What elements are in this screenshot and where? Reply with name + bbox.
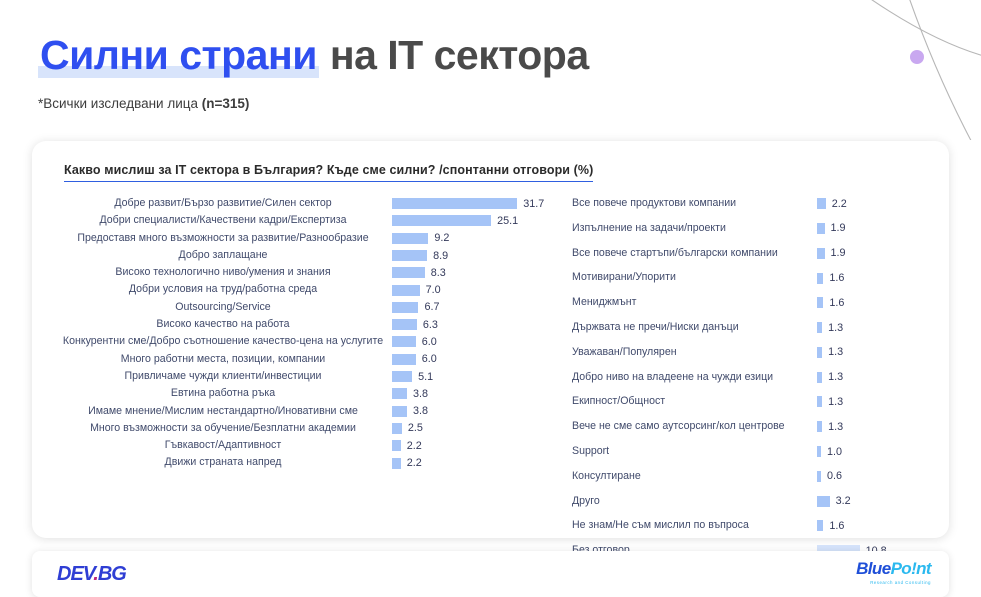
chart-row-barbox: 5.1 [392,370,560,383]
chart-row: Предоставя много възможности за развитие… [60,232,560,245]
chart-bar [817,248,825,259]
chart-bar-value: 1.3 [828,396,843,408]
chart-row: Уважаван/Популярен1.3 [572,346,942,359]
chart-bar [817,421,822,432]
chart-row: Добро ниво на владеене на чужди езици1.3 [572,371,942,384]
chart-row-label: Уважаван/Популярен [572,346,817,359]
chart-row-label: Все повече стартъпи/български компании [572,247,817,260]
chart-row-barbox: 3.2 [817,495,942,508]
chart-bar [392,406,407,417]
chart-row-label: Много работни места, позиции, компании [60,353,392,366]
chart-row-label: Добро заплащане [60,249,392,262]
chart-row-barbox: 2.2 [392,456,560,469]
chart-card: Какво мислиш за IT сектора в България? К… [32,141,949,538]
chart-row-label: Предоставя много възможности за развитие… [60,232,392,245]
chart-row-barbox: 1.3 [817,420,942,433]
chart-bar-value: 8.3 [431,267,446,279]
chart-bar-value: 9.2 [434,232,449,244]
chart-bar-value: 1.3 [828,322,843,334]
chart-row: Все повече стартъпи/български компании1.… [572,247,942,260]
chart-row: Не знам/Не съм мислил по въпроса1.6 [572,519,942,532]
chart-bar-value: 1.3 [828,421,843,433]
chart-row-label: Евтина работна ръка [60,387,392,400]
chart-row-label: Outsourcing/Service [60,301,392,314]
chart-bar-value: 3.8 [413,405,428,417]
chart-bar [817,520,823,531]
chart-row-label: Все повече продуктови компании [572,197,817,210]
chart-row: Добро заплащане8.9 [60,249,560,262]
bluepoint-logo-blue: Blue [856,559,890,578]
chart-bar-value: 5.1 [418,371,433,383]
chart-row: Високо технологично ниво/умения и знания… [60,266,560,279]
chart-row-barbox: 8.3 [392,266,560,279]
chart-row-barbox: 3.8 [392,387,560,400]
chart-bar-value: 3.8 [413,388,428,400]
chart-row-barbox: 1.6 [817,296,942,309]
chart-row-label: Добри условия на труд/работна среда [60,283,392,296]
chart-row: Консултиране0.6 [572,470,942,483]
page-title-highlight: Силни страни [38,32,319,78]
chart-bar [392,233,428,244]
chart-row-barbox: 6.0 [392,353,560,366]
chart-row-barbox: 2.5 [392,422,560,435]
chart-bar [392,458,401,469]
chart-row: Изпълнение на задачи/проекти1.9 [572,222,942,235]
footer-bar: DEV.BG BluePo!nt Research and Consulting [32,551,949,597]
chart-bar [392,285,420,296]
chart-row-label: Вече не сме само аутсорсинг/кол центрове [572,420,817,433]
chart-column-left: Добре развит/Бързо развитие/Силен сектор… [60,197,560,474]
chart-row-barbox: 2.2 [817,197,942,210]
chart-bar-value: 25.1 [497,215,518,227]
chart-row: Конкурентни сме/Добро съотношение качест… [60,335,560,348]
chart-bar [817,347,822,358]
chart-bar [392,423,402,434]
chart-row-barbox: 2.2 [392,439,560,452]
chart-row: Евтина работна ръка3.8 [60,387,560,400]
chart-bar [817,372,822,383]
chart-row-label: Конкурентни сме/Добро съотношение качест… [60,335,392,348]
subtitle: *Всички изследвани лица (n=315) [38,96,249,111]
chart-row: Мотивирани/Упорити1.6 [572,271,942,284]
chart-bar-value: 6.0 [422,336,437,348]
chart-bar-value: 6.7 [424,301,439,313]
chart-row-barbox: 1.3 [817,346,942,359]
chart-row-barbox: 1.3 [817,321,942,334]
chart-question-heading: Какво мислиш за IT сектора в България? К… [64,163,593,182]
chart-row-label: Привличаме чужди клиенти/инвестиции [60,370,392,383]
chart-row: Все повече продуктови компании2.2 [572,197,942,210]
chart-bar [817,496,830,507]
page-title: Силни страни на IT сектора [38,33,589,79]
chart-row: Support1.0 [572,445,942,458]
chart-row-barbox: 0.6 [817,470,942,483]
chart-bar [392,198,517,209]
chart-row-barbox: 8.9 [392,249,560,262]
chart-row-barbox: 31.7 [392,197,560,210]
chart-row-label: Мениджмънт [572,296,817,309]
chart-bar-value: 2.2 [407,440,422,452]
chart-row: Вече не сме само аутсорсинг/кол центрове… [572,420,942,433]
chart-bar [392,440,401,451]
chart-row-barbox: 1.6 [817,271,942,284]
chart-row: Друго3.2 [572,495,942,508]
chart-bar [392,302,418,313]
chart-bar [392,354,416,365]
chart-row: Добре развит/Бързо развитие/Силен сектор… [60,197,560,210]
chart-row-label: Екипност/Общност [572,395,817,408]
decorative-dot [910,50,924,64]
chart-bar [817,322,822,333]
chart-row-label: Имаме мнение/Мислим нестандартно/Иновати… [60,405,392,418]
chart-row: Привличаме чужди клиенти/инвестиции5.1 [60,370,560,383]
bluepoint-logo-tagline: Research and Consulting [856,580,931,585]
chart-bar [817,198,826,209]
bluepoint-logo[interactable]: BluePo!nt Research and Consulting [856,559,931,585]
chart-bar-value: 6.0 [422,353,437,365]
chart-row-label: Support [572,445,817,458]
chart-bar-value: 3.2 [836,495,851,507]
chart-bar [817,471,821,482]
chart-row: Много възможности за обучение/Безплатни … [60,422,560,435]
chart-row-label: Консултиране [572,470,817,483]
chart-row-label: Не знам/Не съм мислил по въпроса [572,519,817,532]
chart-column-right: Все повече продуктови компании2.2Изпълне… [572,197,942,569]
chart-row-label: Много възможности за обучение/Безплатни … [60,422,392,435]
chart-row-label: Добре развит/Бързо развитие/Силен сектор [60,197,392,210]
chart-row-label: Добри специалисти/Качествени кадри/Експе… [60,214,392,227]
chart-row-barbox: 1.6 [817,519,942,532]
chart-bar-value: 1.0 [827,446,842,458]
subtitle-sample-size: (n=315) [202,96,250,111]
devbg-logo-part1: DEV [57,563,93,585]
chart-row: Мениджмънт1.6 [572,296,942,309]
chart-bar-value: 1.3 [828,346,843,358]
chart-row: Високо качество на работа6.3 [60,318,560,331]
chart-bar [817,396,822,407]
chart-bar-value: 1.3 [828,371,843,383]
decorative-arcs [841,0,981,140]
chart-row-barbox: 1.9 [817,222,942,235]
chart-bar-value: 1.6 [829,520,844,532]
slide-root: Силни страни на IT сектора *Всички изсле… [0,0,981,597]
chart-row-label: Мотивирани/Упорити [572,271,817,284]
chart-row-barbox: 1.0 [817,445,942,458]
chart-row-barbox: 6.7 [392,301,560,314]
chart-bar [392,215,491,226]
chart-bar-value: 8.9 [433,250,448,262]
chart-row-label: Движи страната напред [60,456,392,469]
chart-row-barbox: 25.1 [392,214,560,227]
chart-bar [392,388,407,399]
chart-bar [392,319,417,330]
chart-row-label: Високо технологично ниво/умения и знания [60,266,392,279]
chart-bar-value: 2.2 [832,198,847,210]
chart-row: Много работни места, позиции, компании6.… [60,353,560,366]
chart-bar-value: 1.9 [831,222,846,234]
chart-row-label: Друго [572,495,817,508]
chart-row: Гъвкавост/Адаптивност2.2 [60,439,560,452]
chart-bar [392,250,427,261]
chart-bar [817,297,823,308]
chart-row-barbox: 6.3 [392,318,560,331]
chart-bar [392,267,425,278]
chart-row-barbox: 6.0 [392,335,560,348]
chart-row: Екипност/Общност1.3 [572,395,942,408]
chart-row-label: Изпълнение на задачи/проекти [572,222,817,235]
page-title-rest: на IT сектора [319,32,589,78]
chart-row-barbox: 1.3 [817,371,942,384]
chart-bar [817,223,825,234]
chart-row-barbox: 1.9 [817,247,942,260]
chart-row: Добри условия на труд/работна среда7.0 [60,283,560,296]
chart-row: Държвата не пречи/Ниски данъци1.3 [572,321,942,334]
chart-bar-value: 1.6 [829,297,844,309]
chart-row-label: Високо качество на работа [60,318,392,331]
chart-row-barbox: 9.2 [392,232,560,245]
chart-bar-value: 0.6 [827,470,842,482]
chart-row: Добри специалисти/Качествени кадри/Експе… [60,214,560,227]
chart-row-label: Добро ниво на владеене на чужди езици [572,371,817,384]
chart-row-label: Държвата не пречи/Ниски данъци [572,321,817,334]
devbg-logo-part2: BG [98,563,126,585]
chart-row-barbox: 7.0 [392,284,560,297]
subtitle-text: *Всички изследвани лица [38,96,202,111]
devbg-logo[interactable]: DEV.BG [57,563,126,586]
bluepoint-logo-cyan: Po!nt [891,559,931,578]
chart-row-label: Гъвкавост/Адаптивност [60,439,392,452]
chart-bar-value: 6.3 [423,319,438,331]
chart-row: Движи страната напред2.2 [60,456,560,469]
chart-bar [817,446,821,457]
chart-bar-value: 7.0 [426,284,441,296]
chart-row: Outsourcing/Service6.7 [60,301,560,314]
chart-bar-value: 1.9 [831,247,846,259]
chart-bar [817,273,823,284]
chart-bar-value: 2.2 [407,457,422,469]
chart-row-barbox: 3.8 [392,405,560,418]
chart-row: Имаме мнение/Мислим нестандартно/Иновати… [60,405,560,418]
chart-row-barbox: 1.3 [817,395,942,408]
chart-bar-value: 1.6 [829,272,844,284]
chart-bar [392,336,416,347]
chart-bar-value: 31.7 [523,198,544,210]
chart-bar [392,371,412,382]
chart-bar-value: 2.5 [408,422,423,434]
